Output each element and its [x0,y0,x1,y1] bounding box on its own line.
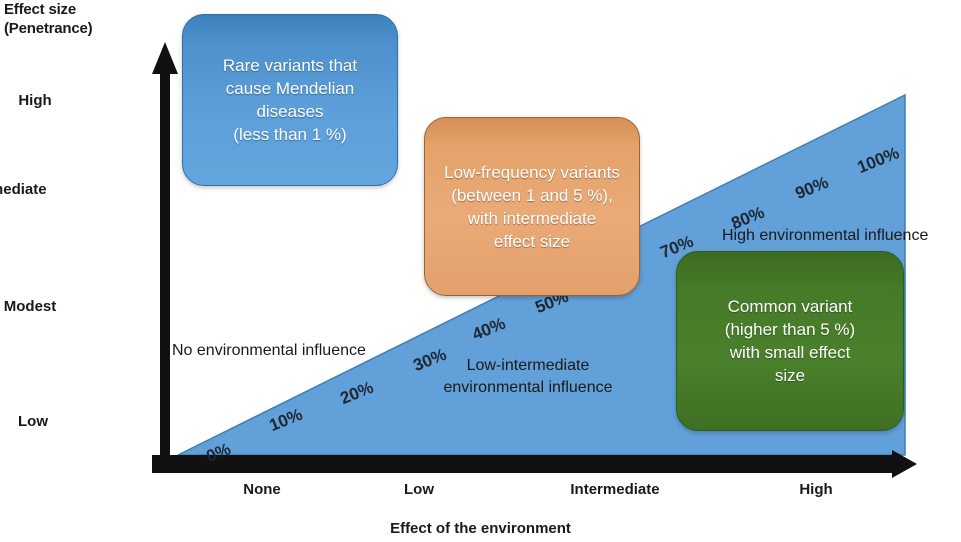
y-axis-tick-low: Low [0,413,108,430]
low-frequency-line2: (between 1 and 5 %), [451,186,613,205]
x-axis-title: Effect of the environment [0,520,961,537]
zone-label-low-intermediate-line2: environmental influence [444,379,613,396]
common-variant-line2: (higher than 5 %) [725,320,855,339]
x-axis-tick-high: High [757,481,875,498]
callout-box-low-frequency-variants[interactable]: Low-frequency variants (between 1 and 5 … [424,117,640,296]
rare-variants-line3: diseases [256,102,323,121]
x-axis-tick-low: Low [360,481,478,498]
low-frequency-line3: with intermediate [468,209,597,228]
callout-box-low-frequency-variants-text: Low-frequency variants (between 1 and 5 … [444,161,620,253]
percent-label-90: 90% [793,173,832,204]
x-axis-tick-intermediate: Intermediate [500,481,730,498]
callout-box-rare-variants-text: Rare variants that cause Mendelian disea… [223,54,357,146]
percent-label-100: 100% [855,143,903,178]
percent-label-40: 40% [470,314,509,345]
y-axis-tick-high: High [0,92,110,109]
y-axis-title: Effect size (Penetrance) [4,0,164,38]
percent-label-20: 20% [338,378,377,409]
y-axis-tick-intermediate: Intermediate [0,181,77,198]
zone-label-no-environmental-influence: No environmental influence [172,342,366,360]
y-axis-title-line1: Effect size [4,0,164,19]
zone-label-low-intermediate-environmental-influence: Low-intermediate environmental influence [425,355,631,399]
common-variant-line1: Common variant [728,297,853,316]
y-axis-title-line2: (Penetrance) [4,19,164,38]
callout-box-rare-variants[interactable]: Rare variants that cause Mendelian disea… [182,14,398,186]
y-axis-arrow [152,42,184,462]
percent-label-10: 10% [267,405,306,436]
low-frequency-line1: Low-frequency variants [444,163,620,182]
callout-box-common-variant-text: Common variant (higher than 5 %) with sm… [725,295,855,387]
x-axis-arrow [152,450,917,480]
common-variant-line3: with small effect [730,343,851,362]
low-frequency-line4: effect size [494,232,570,251]
rare-variants-line2: cause Mendelian [226,79,355,98]
callout-box-common-variant[interactable]: Common variant (higher than 5 %) with sm… [676,251,904,431]
rare-variants-line4: (less than 1 %) [233,125,346,144]
y-axis-tick-modest: Modest [0,298,105,315]
zone-label-low-intermediate-line1: Low-intermediate [467,357,590,374]
rare-variants-line1: Rare variants that [223,56,357,75]
zone-label-high-environmental-influence: High environmental influence [722,227,928,245]
common-variant-line4: size [775,366,805,385]
x-axis-tick-none: None [203,481,321,498]
figure-canvas: Effect size (Penetrance) High Intermedia… [0,0,961,542]
